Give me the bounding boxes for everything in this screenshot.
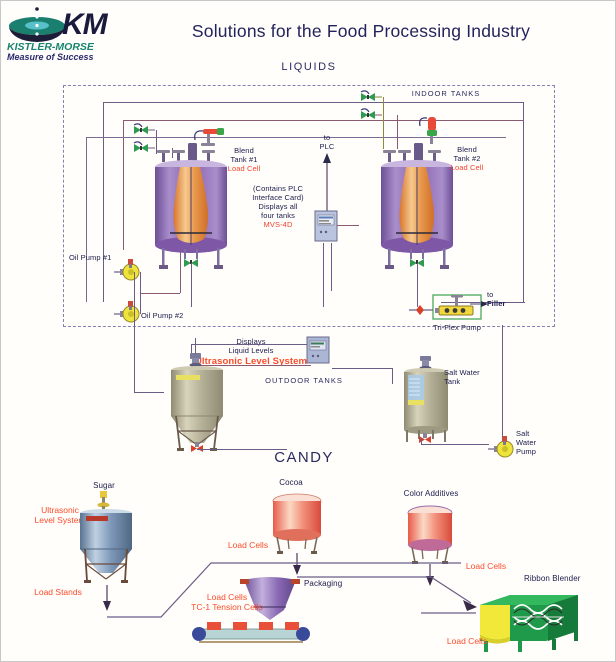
page-title: Solutions for the Food Processing Indust… [151, 21, 571, 42]
section-candy: CANDY [239, 449, 369, 466]
pipe-display-right [332, 368, 392, 369]
pipe-pump-link [140, 293, 180, 294]
outdoor-silo-tank [164, 353, 230, 453]
mvs4d-controller-panel[interactable] [314, 210, 340, 249]
oil-pump-2-label: Oil Pump #2 [141, 311, 201, 320]
pipe-display-in [191, 344, 307, 345]
to-plc-label: to PLC [307, 133, 347, 151]
salt-water-pump [488, 436, 516, 465]
valve-left-1 [130, 123, 156, 142]
pipe-vert-far-left [86, 137, 87, 302]
diagram-canvas: KM KISTLER-MORSE Measure of Success Solu… [0, 0, 616, 662]
color-additives-label: Color Additives [391, 489, 471, 498]
valve-right-2 [357, 108, 383, 127]
pipe-controller-down2 [331, 243, 332, 291]
to-filler-label: to Filler [487, 290, 527, 308]
pipe-vert-left-outer [103, 102, 104, 302]
ribbon-blender-label: Ribbon Blender [524, 574, 604, 583]
controller-model: MVS-4D [239, 220, 317, 229]
pipe-run-second [123, 120, 523, 121]
section-liquids: LIQUIDS [209, 61, 409, 73]
pipe-saltwater-drop [421, 438, 422, 445]
pipe-controller-out [337, 225, 359, 226]
controller-description: (Contains PLC Interface Card) Displays a… [239, 184, 317, 229]
pipe-pump-riser-right [502, 325, 503, 437]
pipe-silo-sensor [195, 338, 196, 354]
packaging-label: Packaging [304, 579, 364, 588]
pipe-vert-right [523, 102, 524, 302]
blend-tank-1-sensor: Load Cell [219, 164, 269, 173]
blend-tank-2-label: Blend Tank #2 Load Cell [442, 145, 492, 172]
pipe-pump-riser [180, 251, 181, 293]
oil-pump-1 [114, 259, 142, 288]
to-filler-arrow-icon [470, 295, 488, 313]
salt-water-tank-label: Salt Water Tank [444, 368, 504, 386]
brand-tagline: Measure of Success [7, 52, 94, 62]
brand-logo: KM KISTLER-MORSE Measure of Success [5, 5, 117, 61]
brand-mark: KM [62, 8, 107, 42]
kistler-morse-bowl-logo [7, 6, 67, 46]
pipe-silo-in [134, 392, 164, 393]
pipe-t2-to-triflex [417, 263, 418, 307]
sugar-label: Sugar [79, 481, 129, 490]
tri-flex-pump-label: Tri-Flex Pump [423, 323, 491, 332]
pipe-tank1-drain [191, 263, 192, 307]
pipe-vert-left-inner [123, 120, 124, 250]
tri-flex-inlet-valve [409, 303, 433, 322]
salt-water-pump-label: Salt Water Pump [516, 429, 562, 456]
pipe-left-down-outdoor [134, 272, 135, 392]
pipe-controller-down [323, 243, 324, 307]
pipe-saltwater-to-pump [421, 444, 489, 445]
oil-pump-2 [114, 301, 142, 330]
packaging-sensors: Load Cells TC-1 Tension Cells [171, 592, 283, 612]
valve-right-1 [357, 90, 383, 109]
blend-tank-2-sensor: Load Cell [442, 163, 492, 172]
cocoa-label: Cocoa [261, 478, 321, 487]
pipe-run-top [103, 102, 523, 103]
pipe-display-right-down [392, 368, 393, 384]
packaging-conveyor [187, 620, 315, 650]
blend-tank-1-label: Blend Tank #1 Load Cell [219, 146, 269, 173]
section-indoor-tanks: INDOOR TANKS [386, 89, 506, 98]
section-outdoor-tanks: OUTDOOR TANKS [239, 376, 369, 385]
ribbon-blender-load-cells: Load Cells [438, 636, 496, 646]
